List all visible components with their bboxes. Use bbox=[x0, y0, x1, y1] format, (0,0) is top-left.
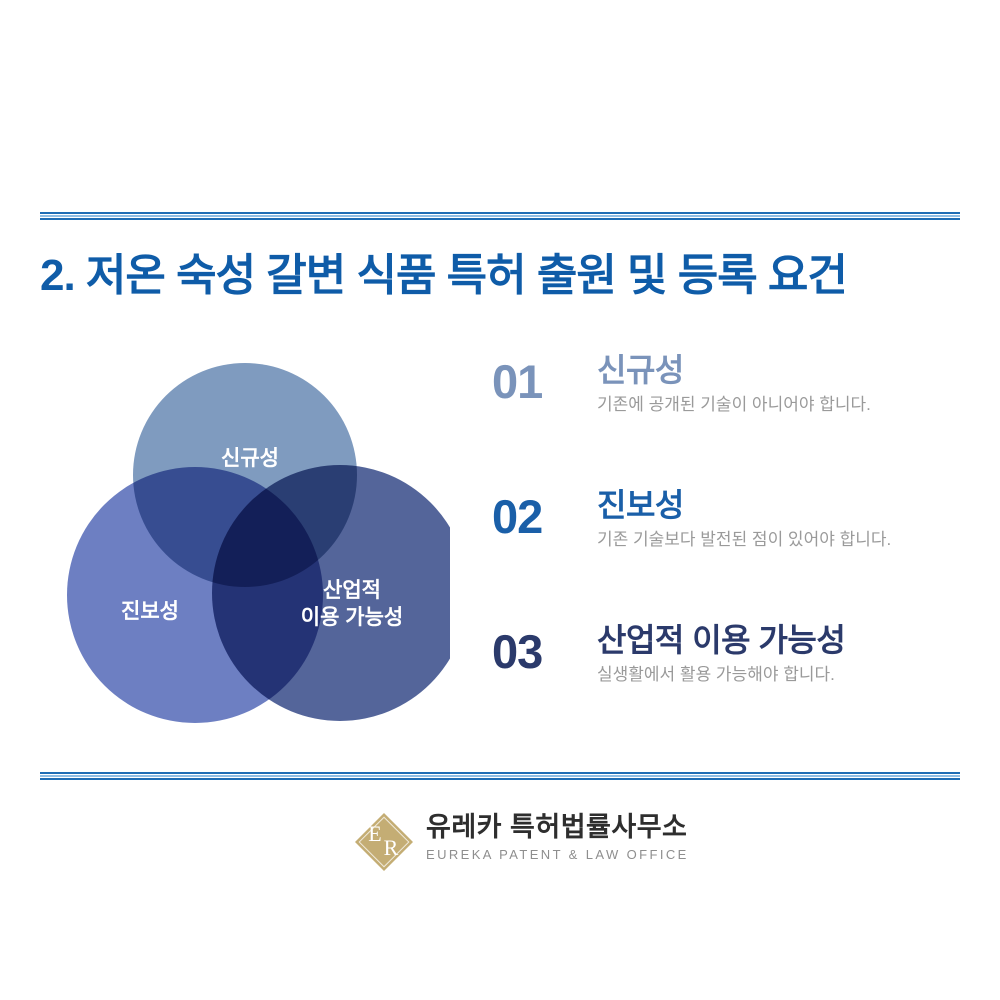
divider-rule-light bbox=[40, 775, 960, 777]
requirement-number-02: 02 bbox=[492, 493, 542, 540]
requirement-description-01: 기존에 공개된 기술이 아니어야 합니다. bbox=[597, 394, 962, 416]
requirement-item-02: 02 진보성 기존 기술보다 발전된 점이 있어야 합니다. bbox=[492, 487, 962, 597]
venn-diagram: 신규성 진보성 산업적 이용 가능성 bbox=[50, 345, 450, 745]
requirement-item-01: 01 신규성 기존에 공개된 기술이 아니어야 합니다. bbox=[492, 352, 962, 462]
footer-logo: E R 유레카 특허법률사무소 EUREKA PATENT & LAW OFFI… bbox=[350, 806, 670, 880]
requirement-body-01: 신규성 기존에 공개된 기술이 아니어야 합니다. bbox=[597, 352, 962, 416]
divider-rule-dark-bottom bbox=[40, 218, 960, 220]
slide-root: 2. 저온 숙성 갈변 식품 특허 출원 및 등록 요건 신규성 진보성 산업적… bbox=[0, 0, 1000, 1000]
monogram-letter-r: R bbox=[384, 835, 399, 860]
divider-rule-dark-top bbox=[40, 212, 960, 214]
page-title: 2. 저온 숙성 갈변 식품 특허 출원 및 등록 요건 bbox=[40, 252, 847, 300]
requirement-heading-02: 진보성 bbox=[597, 487, 962, 524]
footer-logo-text: 유레카 특허법률사무소 EUREKA PATENT & LAW OFFICE bbox=[426, 812, 670, 862]
firm-name-korean: 유레카 특허법률사무소 bbox=[426, 812, 670, 843]
bottom-divider bbox=[40, 772, 960, 780]
divider-rule-dark-top bbox=[40, 772, 960, 774]
diamond-monogram-icon: E R bbox=[350, 808, 418, 876]
requirement-description-02: 기존 기술보다 발전된 점이 있어야 합니다. bbox=[597, 529, 962, 551]
requirement-body-02: 진보성 기존 기술보다 발전된 점이 있어야 합니다. bbox=[597, 487, 962, 551]
requirement-item-03: 03 산업적 이용 가능성 실생활에서 활용 가능해야 합니다. bbox=[492, 622, 962, 732]
firm-name-english: EUREKA PATENT & LAW OFFICE bbox=[426, 847, 670, 862]
top-divider bbox=[40, 212, 960, 220]
divider-rule-light bbox=[40, 215, 960, 217]
requirement-number-01: 01 bbox=[492, 358, 542, 405]
requirement-heading-03: 산업적 이용 가능성 bbox=[597, 622, 962, 659]
divider-rule-dark-bottom bbox=[40, 778, 960, 780]
venn-svg bbox=[50, 345, 450, 745]
requirement-heading-01: 신규성 bbox=[597, 352, 962, 389]
monogram-letter-e: E bbox=[368, 821, 381, 846]
requirement-number-03: 03 bbox=[492, 628, 542, 675]
requirement-body-03: 산업적 이용 가능성 실생활에서 활용 가능해야 합니다. bbox=[597, 622, 962, 686]
requirement-description-03: 실생활에서 활용 가능해야 합니다. bbox=[597, 664, 962, 686]
